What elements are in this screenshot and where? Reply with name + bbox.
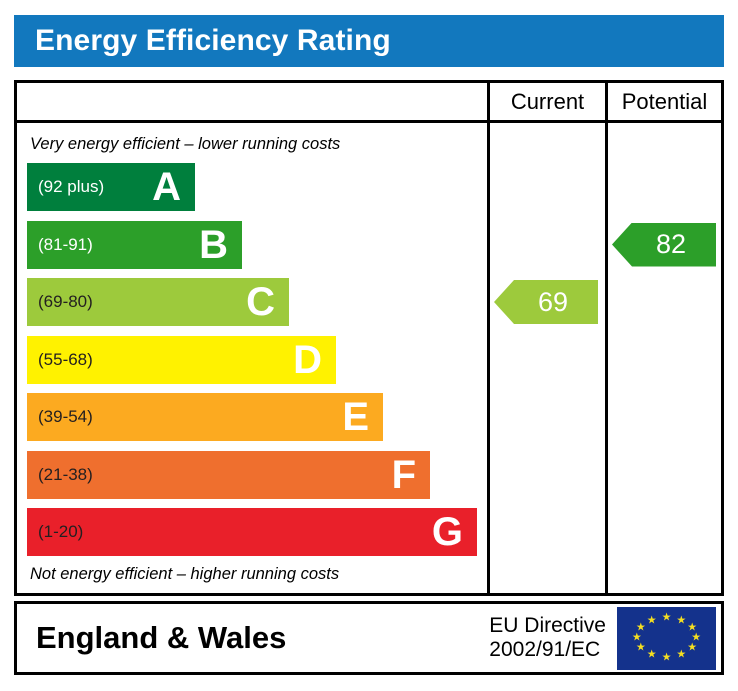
band-b: (81-91)B xyxy=(27,221,242,269)
band-c-range: (69-80) xyxy=(27,292,93,312)
eu-flag-star: ★ xyxy=(647,650,657,661)
band-f-letter: F xyxy=(392,455,416,495)
band-d-range: (55-68) xyxy=(27,350,93,370)
column-header-current: Current xyxy=(487,83,605,120)
eu-flag-star: ★ xyxy=(632,633,642,644)
eu-flag-star: ★ xyxy=(676,650,686,661)
band-a-letter: A xyxy=(152,167,181,207)
eu-directive-line2: 2002/91/EC xyxy=(489,638,606,662)
chart-header-banner: Energy Efficiency Rating xyxy=(14,15,724,67)
band-e-letter: E xyxy=(342,397,369,437)
eu-directive-label: EU Directive 2002/91/EC xyxy=(489,614,617,661)
rating-arrow-potential: 82 xyxy=(612,223,716,267)
band-g: (1-20)G xyxy=(27,508,477,556)
band-b-range: (81-91) xyxy=(27,235,93,255)
eu-flag-star: ★ xyxy=(687,643,697,654)
region-label: England & Wales xyxy=(17,620,489,656)
column-header-potential: Potential xyxy=(605,83,721,120)
band-g-letter: G xyxy=(432,512,463,552)
band-a-range: (92 plus) xyxy=(27,177,104,197)
footer: England & Wales EU Directive 2002/91/EC … xyxy=(14,601,724,675)
column-header-current-label: Current xyxy=(511,89,584,115)
band-c: (69-80)C xyxy=(27,278,289,326)
band-g-range: (1-20) xyxy=(27,522,83,542)
band-f: (21-38)F xyxy=(27,451,430,499)
band-e: (39-54)E xyxy=(27,393,383,441)
column-divider-potential xyxy=(605,123,608,593)
energy-efficiency-certificate: Energy Efficiency Rating Current Potenti… xyxy=(0,0,738,691)
eu-directive-line1: EU Directive xyxy=(489,614,606,638)
band-b-letter: B xyxy=(199,225,228,265)
eu-flag-star: ★ xyxy=(647,615,657,626)
eu-flag-star: ★ xyxy=(636,622,646,633)
column-header-potential-label: Potential xyxy=(622,89,708,115)
band-a: (92 plus)A xyxy=(27,163,195,211)
band-d-letter: D xyxy=(293,340,322,380)
bands-area: Very energy efficient – lower running co… xyxy=(17,123,487,593)
rating-arrow-current: 69 xyxy=(494,280,598,324)
eu-flag-star: ★ xyxy=(662,653,672,664)
eu-flag-star: ★ xyxy=(676,615,686,626)
note-efficient: Very energy efficient – lower running co… xyxy=(30,135,340,154)
band-d: (55-68)D xyxy=(27,336,336,384)
band-c-letter: C xyxy=(246,282,275,322)
note-inefficient: Not energy efficient – higher running co… xyxy=(30,565,339,584)
page-title: Energy Efficiency Rating xyxy=(14,24,391,58)
band-f-range: (21-38) xyxy=(27,465,93,485)
eu-flag-icon: ★★★★★★★★★★★★ xyxy=(617,607,716,670)
rating-chart: Current Potential Very energy efficient … xyxy=(14,80,724,596)
eu-flag-star: ★ xyxy=(636,643,646,654)
eu-flag-star: ★ xyxy=(662,612,672,623)
column-header-row: Current Potential xyxy=(17,83,721,123)
column-divider-current xyxy=(487,123,490,593)
band-e-range: (39-54) xyxy=(27,407,93,427)
